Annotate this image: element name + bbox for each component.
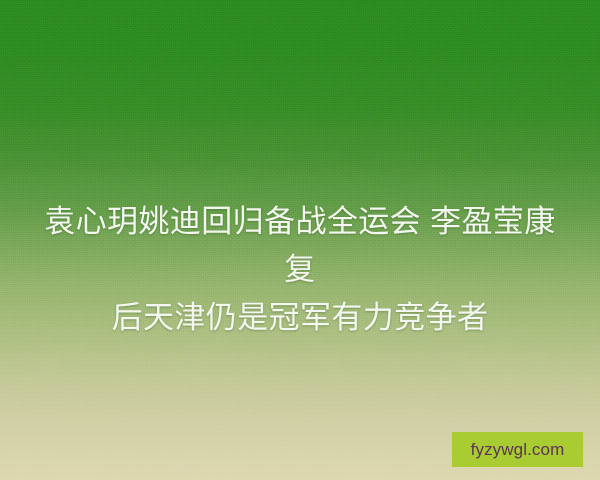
watermark-label: fyzywgl.com (471, 441, 565, 458)
watermark-badge: fyzywgl.com (452, 432, 583, 467)
headline-text: 袁心玥姚迪回归备战全运会 李盈莹康复 后天津仍是冠军有力竞争者 (0, 198, 600, 342)
image-canvas: 袁心玥姚迪回归备战全运会 李盈莹康复 后天津仍是冠军有力竞争者 fyzywgl.… (0, 0, 600, 480)
